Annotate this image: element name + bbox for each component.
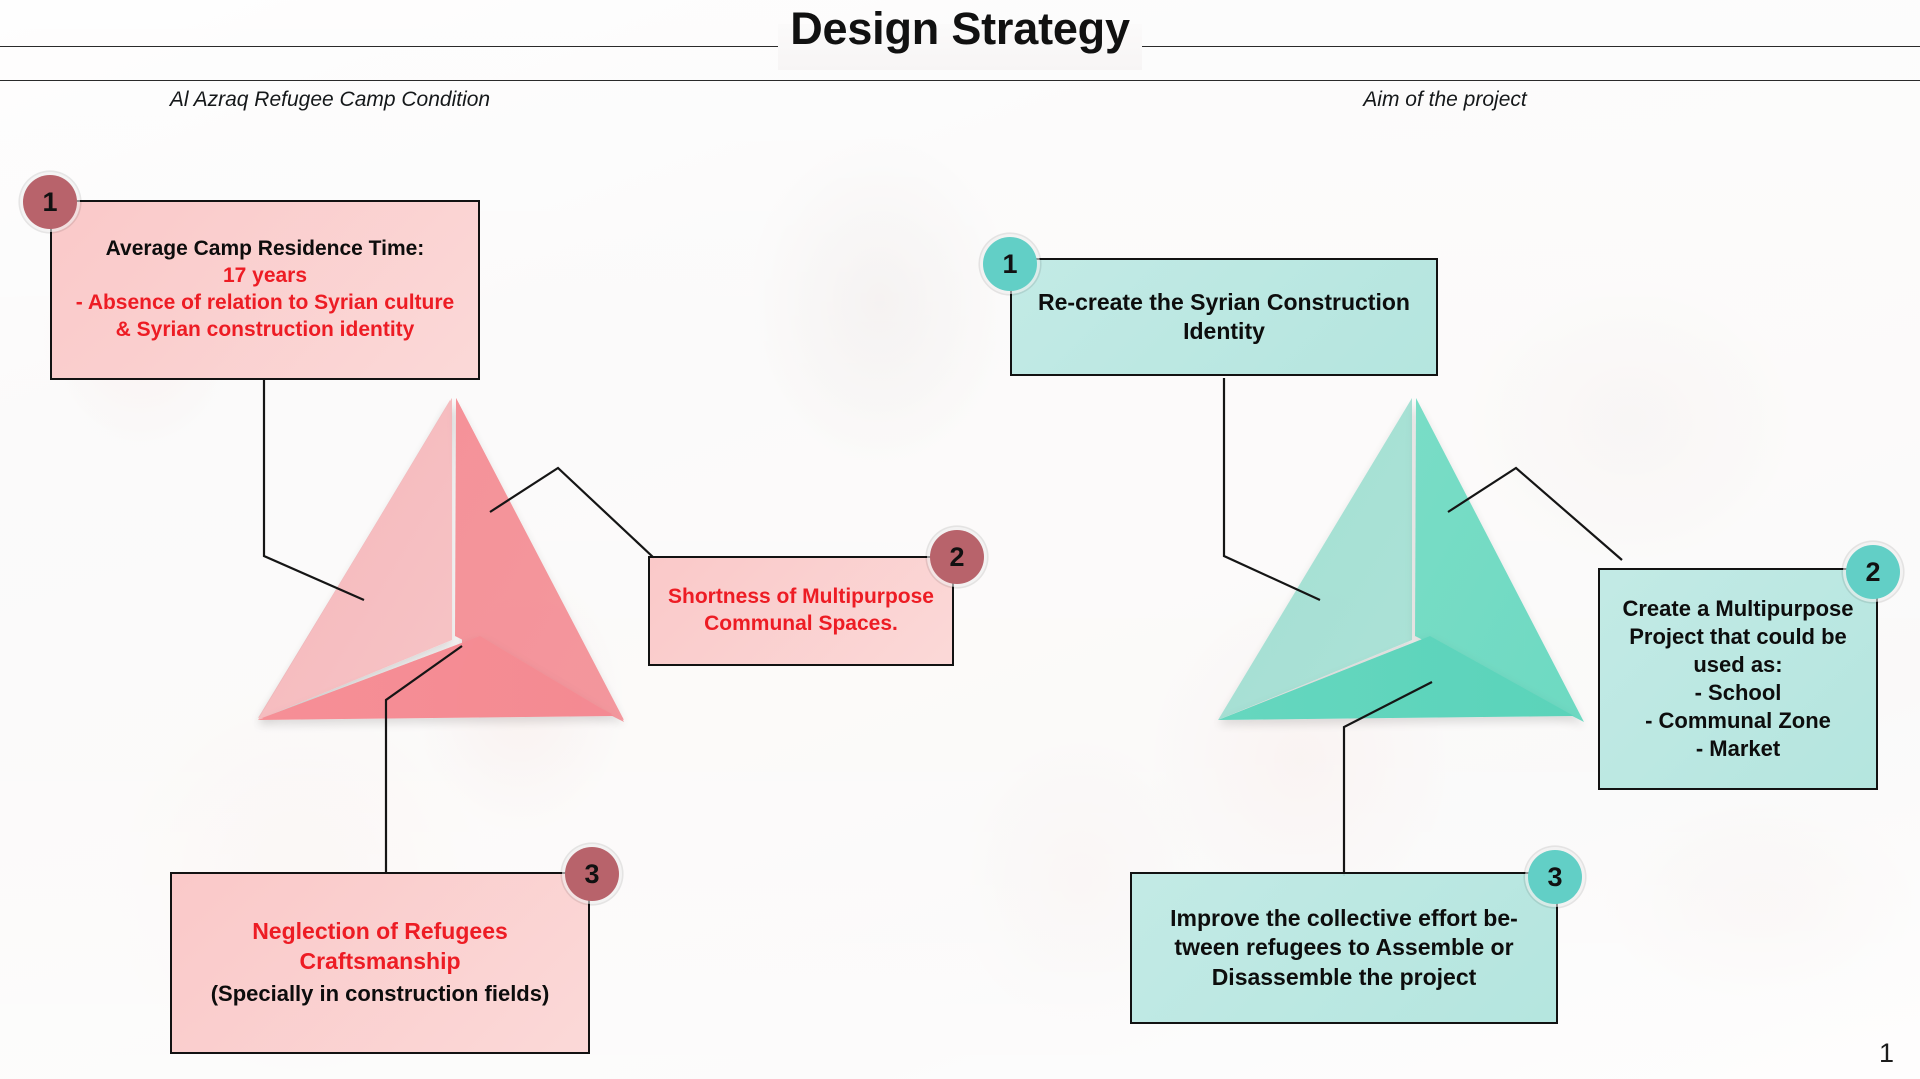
callout-left-1-line-1: 17 years (223, 263, 307, 290)
callout-left-1[interactable]: Average Camp Residence Time: 17 years - … (50, 200, 480, 380)
callout-right-2-line-2: used as: (1693, 651, 1782, 679)
callout-left-1-line-0: Average Camp Residence Time: (106, 236, 425, 263)
callout-right-2-line-5: - Market (1696, 735, 1780, 763)
badge-left-1[interactable]: 1 (23, 175, 77, 229)
callout-left-3[interactable]: Neglection of Refugees Craftsmanship (Sp… (170, 872, 590, 1054)
badge-right-2[interactable]: 2 (1846, 545, 1900, 599)
callout-right-3-line-0: Improve the collective effort be- (1170, 904, 1518, 933)
leader-line-right-1 (1224, 378, 1320, 600)
callout-right-2-line-1: Project that could be (1629, 623, 1847, 651)
callout-left-1-line-3: & Syrian construction identity (116, 317, 415, 344)
callout-right-1-line-1: Identity (1183, 317, 1265, 346)
callout-right-2-line-3: - School (1695, 679, 1782, 707)
callout-right-1-line-0: Re-create the Syrian Construction (1038, 288, 1410, 317)
leader-line-left-2 (490, 468, 654, 558)
callout-left-2-line-1: Communal Spaces. (704, 611, 898, 638)
leader-line-left-1 (264, 378, 364, 600)
callout-left-1-line-2: - Absence of relation to Syrian culture (76, 290, 454, 317)
callout-left-2[interactable]: Shortness of Multipurpose Communal Space… (648, 556, 954, 666)
callout-right-1[interactable]: Re-create the Syrian Construction Identi… (1010, 258, 1438, 376)
badge-right-1[interactable]: 1 (983, 237, 1037, 291)
leader-line-right-3 (1344, 682, 1432, 876)
callout-left-3-line-2: (Specially in construction fields) (211, 980, 550, 1008)
callout-right-3[interactable]: Improve the collective effort be- tween … (1130, 872, 1558, 1024)
callout-right-2-line-4: - Communal Zone (1645, 707, 1831, 735)
badge-left-2[interactable]: 2 (930, 530, 984, 584)
callout-right-2-line-0: Create a Multipurpose (1622, 595, 1853, 623)
leader-line-right-2 (1448, 468, 1622, 560)
callout-left-3-line-0: Neglection of Refugees (252, 917, 508, 946)
callout-left-2-line-0: Shortness of Multipurpose (668, 584, 934, 611)
badge-right-3[interactable]: 3 (1528, 850, 1582, 904)
callout-left-3-line-1: Craftsmanship (299, 947, 460, 976)
callout-right-3-line-1: tween refugees to Assemble or (1174, 933, 1513, 962)
badge-left-3[interactable]: 3 (565, 847, 619, 901)
callout-right-3-line-2: Disassemble the project (1212, 963, 1477, 992)
leader-line-left-3 (386, 646, 462, 874)
callout-right-2[interactable]: Create a Multipurpose Project that could… (1598, 568, 1878, 790)
page-number: 1 (1879, 1038, 1894, 1069)
